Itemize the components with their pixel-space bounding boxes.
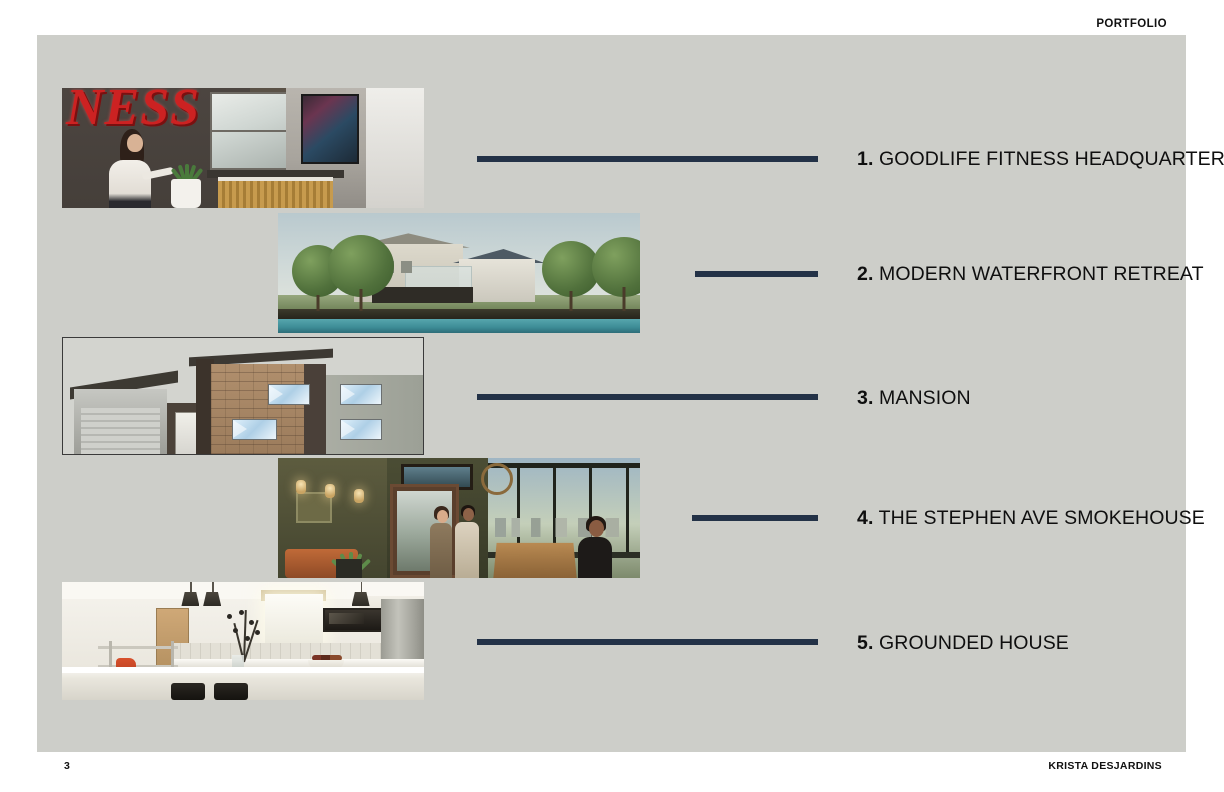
wall-sconce xyxy=(325,484,335,498)
lobby-wall-art xyxy=(301,94,359,164)
window xyxy=(340,384,382,405)
lobby-person-head xyxy=(127,134,143,152)
island-countertop xyxy=(62,667,424,673)
project-number-1: 1. xyxy=(857,148,873,170)
tree xyxy=(325,220,397,311)
project-number-5: 5. xyxy=(857,632,873,654)
lobby-window xyxy=(210,92,290,170)
connector-line-3 xyxy=(477,394,818,400)
window-mullion xyxy=(517,465,520,554)
kitchen-window xyxy=(265,594,323,644)
window-mullion xyxy=(553,465,556,554)
project-label-5[interactable]: 5. GROUNDED HOUSE xyxy=(857,632,1069,655)
mansion-elevation-drawing xyxy=(63,338,423,454)
project-title-3: MANSION xyxy=(879,387,971,409)
lobby-reception-desk xyxy=(218,177,334,208)
back-countertop xyxy=(171,659,424,667)
pendant-light xyxy=(181,582,199,608)
guest-one-head xyxy=(437,510,448,523)
project-thumbnail-5[interactable] xyxy=(62,582,424,700)
project-thumbnail-1[interactable]: NESS xyxy=(62,88,424,208)
project-title-4: THE STEPHEN AVE SMOKEHOUSE xyxy=(879,507,1205,529)
planter xyxy=(336,559,362,578)
window xyxy=(401,261,412,273)
water xyxy=(278,319,640,333)
tree xyxy=(589,215,640,311)
project-title-2: MODERN WATERFRONT RETREAT xyxy=(879,263,1204,285)
city-skyline-view xyxy=(495,518,633,537)
project-thumbnail-2[interactable] xyxy=(278,213,640,333)
window xyxy=(232,419,277,440)
project-number-3: 3. xyxy=(857,387,873,409)
smokehouse-logo-icon xyxy=(481,463,513,495)
brick-veneer-wall xyxy=(211,364,308,454)
wall-sconce xyxy=(296,480,306,494)
lobby-planter xyxy=(171,179,201,208)
connector-line-1 xyxy=(477,156,818,162)
microwave xyxy=(323,608,385,632)
connector-line-5 xyxy=(477,639,818,645)
project-number-4: 4. xyxy=(857,507,873,529)
garage-door xyxy=(81,408,160,454)
grounded-house-kitchen-render xyxy=(62,582,424,700)
project-label-3[interactable]: 3. MANSION xyxy=(857,387,971,410)
lobby-person-body xyxy=(109,160,151,208)
smokehouse-interior-render xyxy=(278,458,640,578)
lobby-far-wall xyxy=(366,88,424,208)
project-label-1[interactable]: 1. GOODLIFE FITNESS HEADQUARTERS xyxy=(857,148,1224,171)
guest-one-body xyxy=(430,523,452,578)
project-title-1: GOODLIFE FITNESS HEADQUARTERS xyxy=(879,148,1224,170)
footer-author-name: KRISTA DESJARDINS xyxy=(1048,760,1162,772)
dark-column-right xyxy=(304,364,326,454)
project-title-5: GROUNDED HOUSE xyxy=(879,632,1069,654)
waterfront-house-exterior-render xyxy=(278,213,640,333)
project-label-2[interactable]: 2. MODERN WATERFRONT RETREAT xyxy=(857,263,1204,286)
decorative-branches xyxy=(221,608,265,662)
goodlife-fitness-lobby-render: NESS xyxy=(62,88,424,208)
bar-stool xyxy=(171,683,205,700)
guest-two-head xyxy=(463,508,474,521)
window xyxy=(340,419,382,440)
guest-two-body xyxy=(455,522,479,578)
pendant-light xyxy=(352,582,370,608)
project-thumbnail-3[interactable] xyxy=(62,337,424,455)
pendant-light xyxy=(203,582,221,608)
host-podium xyxy=(493,543,576,578)
window-head-trim xyxy=(488,463,640,468)
lobby-sign-text: NESS xyxy=(66,88,200,134)
bar-stool xyxy=(214,683,248,700)
project-label-4[interactable]: 4. THE STEPHEN AVE SMOKEHOUSE xyxy=(857,507,1205,530)
window xyxy=(268,384,310,405)
wall-sconce xyxy=(354,489,364,503)
window-mullion xyxy=(626,465,629,554)
host-body xyxy=(578,537,612,578)
project-thumbnail-4[interactable] xyxy=(278,458,640,578)
project-number-2: 2. xyxy=(857,263,873,285)
footer-page-number: 3 xyxy=(64,760,70,772)
connector-line-2 xyxy=(695,271,818,277)
entry-door xyxy=(175,412,199,454)
connector-line-4 xyxy=(692,515,818,521)
header-portfolio-label: PORTFOLIO xyxy=(1096,18,1167,30)
